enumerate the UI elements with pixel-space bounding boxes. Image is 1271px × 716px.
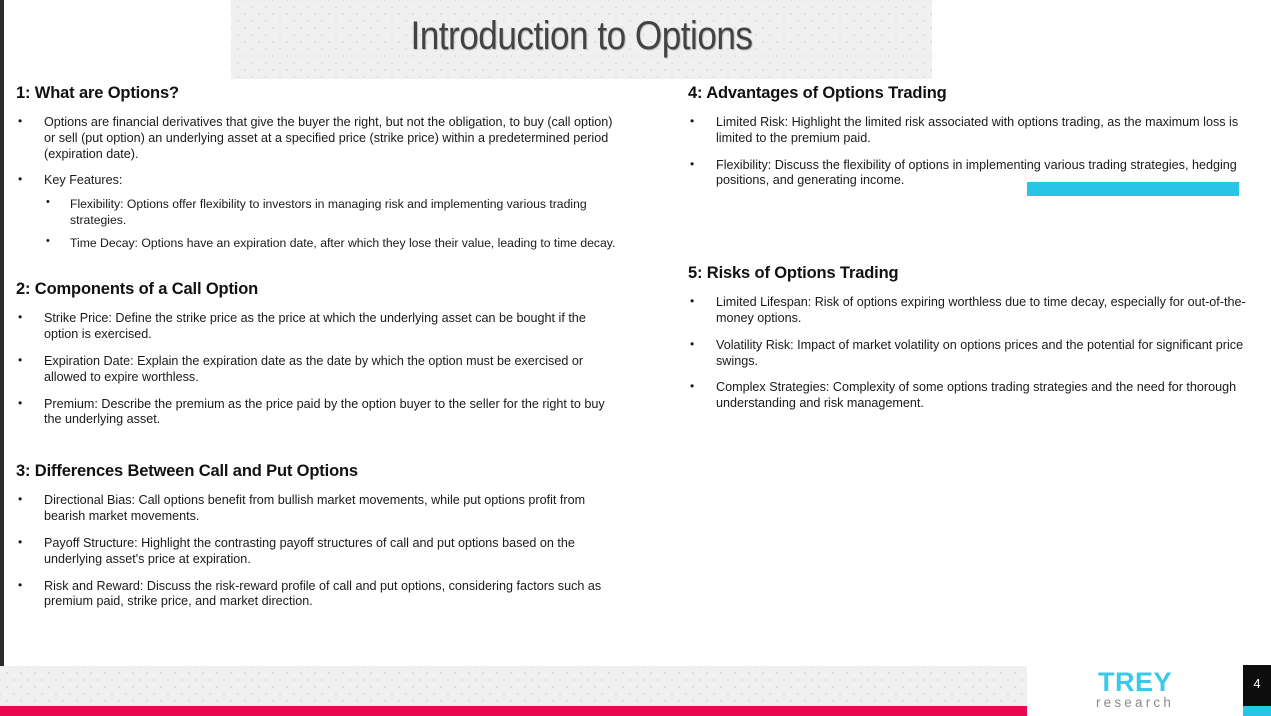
bullet-text: Limited Risk: Highlight the limited risk… bbox=[716, 115, 1238, 145]
section-1-bullet-list: Options are financial derivatives that g… bbox=[16, 115, 616, 252]
list-item: Complex Strategies: Complexity of some o… bbox=[688, 380, 1271, 412]
section-4: 4: Advantages of Options Trading Limited… bbox=[688, 84, 1271, 189]
footer-cyan-stripe bbox=[1243, 706, 1271, 716]
logo-primary-text: TREY bbox=[1027, 669, 1243, 696]
brand-logo: TREY research bbox=[1027, 666, 1243, 716]
section-1: 1: What are Options? Options are financi… bbox=[16, 84, 616, 251]
section-3-bullet-list: Directional Bias: Call options benefit f… bbox=[16, 493, 616, 610]
section-5-bullet-list: Limited Lifespan: Risk of options expiri… bbox=[688, 295, 1271, 412]
section-5-heading: 5: Risks of Options Trading bbox=[688, 264, 1271, 284]
page-number-text: 4 bbox=[1243, 677, 1271, 690]
section-3-heading: 3: Differences Between Call and Put Opti… bbox=[16, 462, 616, 482]
right-content-column: 4: Advantages of Options Trading Limited… bbox=[688, 84, 1271, 412]
list-item: Risk and Reward: Discuss the risk-reward… bbox=[16, 579, 616, 611]
bullet-text: Limited Lifespan: Risk of options expiri… bbox=[716, 295, 1246, 325]
list-item: Limited Risk: Highlight the limited risk… bbox=[688, 115, 1271, 147]
list-item: Expiration Date: Explain the expiration … bbox=[16, 354, 616, 386]
section-1-sub-bullet-list: Flexibility: Options offer flexibility t… bbox=[44, 197, 616, 251]
list-item: Limited Lifespan: Risk of options expiri… bbox=[688, 295, 1271, 327]
list-item: Payoff Structure: Highlight the contrast… bbox=[16, 536, 616, 568]
bullet-text: Payoff Structure: Highlight the contrast… bbox=[44, 536, 575, 566]
cyan-highlight-bar bbox=[1027, 182, 1239, 196]
bullet-text: Directional Bias: Call options benefit f… bbox=[44, 493, 585, 523]
list-item: Key Features: Flexibility: Options offer… bbox=[16, 173, 616, 251]
footer-accent-stripe bbox=[0, 706, 1027, 716]
bullet-text: Options are financial derivatives that g… bbox=[44, 115, 612, 161]
section-4-bullet-list: Limited Risk: Highlight the limited risk… bbox=[688, 115, 1271, 189]
bullet-text: Risk and Reward: Discuss the risk-reward… bbox=[44, 579, 601, 609]
left-content-column: 1: What are Options? Options are financi… bbox=[16, 84, 616, 610]
bullet-text: Expiration Date: Explain the expiration … bbox=[44, 354, 583, 384]
slide-canvas: Introduction to Options 1: What are Opti… bbox=[0, 0, 1271, 716]
bullet-text: Complex Strategies: Complexity of some o… bbox=[716, 380, 1236, 410]
bullet-text: Premium: Describe the premium as the pri… bbox=[44, 397, 605, 427]
section-3: 3: Differences Between Call and Put Opti… bbox=[16, 462, 616, 610]
bullet-text: Volatility Risk: Impact of market volati… bbox=[716, 338, 1243, 368]
logo-secondary-text: research bbox=[1027, 696, 1243, 710]
sub-bullet-text: Flexibility: Options offer flexibility t… bbox=[70, 197, 587, 226]
list-item: Flexibility: Options offer flexibility t… bbox=[44, 197, 616, 228]
list-item: Premium: Describe the premium as the pri… bbox=[16, 397, 616, 429]
list-item: Volatility Risk: Impact of market volati… bbox=[688, 338, 1271, 370]
list-item: Strike Price: Define the strike price as… bbox=[16, 311, 616, 343]
sub-bullet-text: Time Decay: Options have an expiration d… bbox=[70, 236, 615, 250]
list-item: Directional Bias: Call options benefit f… bbox=[16, 493, 616, 525]
bullet-text: Key Features: bbox=[44, 173, 122, 187]
section-2-bullet-list: Strike Price: Define the strike price as… bbox=[16, 311, 616, 428]
section-2-heading: 2: Components of a Call Option bbox=[16, 280, 616, 300]
section-2: 2: Components of a Call Option Strike Pr… bbox=[16, 280, 616, 428]
left-edge-accent-bar bbox=[0, 0, 4, 716]
page-number-badge: 4 bbox=[1243, 665, 1271, 706]
list-item: Options are financial derivatives that g… bbox=[16, 115, 616, 163]
section-4-heading: 4: Advantages of Options Trading bbox=[688, 84, 1271, 104]
list-item: Time Decay: Options have an expiration d… bbox=[44, 236, 616, 251]
section-1-heading: 1: What are Options? bbox=[16, 84, 616, 104]
section-5: 5: Risks of Options Trading Limited Life… bbox=[688, 264, 1271, 412]
bullet-text: Strike Price: Define the strike price as… bbox=[44, 311, 586, 341]
page-title: Introduction to Options bbox=[273, 14, 890, 59]
